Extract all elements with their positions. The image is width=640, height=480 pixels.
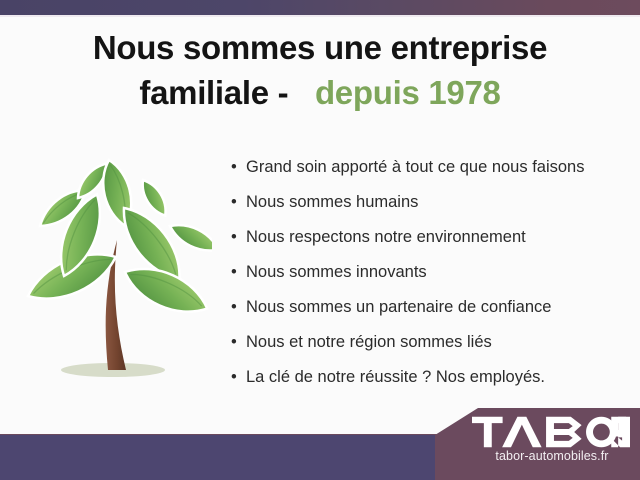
list-item: • La clé de notre réussite ? Nos employé… bbox=[229, 360, 629, 395]
list-item-label: Grand soin apporté à tout ce que nous fa… bbox=[246, 158, 584, 176]
page-title-accent: depuis 1978 bbox=[315, 74, 501, 111]
page-title-line-2-main: familiale - bbox=[139, 74, 288, 111]
logo-tagline: tabor-automobiles.fr bbox=[472, 449, 632, 463]
page-title-line-2: familiale - depuis 1978 bbox=[40, 71, 600, 116]
list-item: • Nous sommes humains bbox=[229, 185, 629, 220]
list-item-label: Nous sommes humains bbox=[246, 193, 418, 211]
value-bullet-list: • Grand soin apporté à tout ce que nous … bbox=[229, 150, 629, 395]
list-item: • Nous sommes un partenaire de confiance bbox=[229, 290, 629, 325]
page-title: Nous sommes une entreprise familiale - d… bbox=[40, 26, 600, 115]
family-tree-illustration bbox=[12, 148, 212, 388]
page-title-line-1: Nous sommes une entreprise bbox=[40, 26, 600, 71]
list-item-label: La clé de notre réussite ? Nos employés. bbox=[246, 368, 545, 386]
bullet-marker-icon: • bbox=[231, 220, 237, 255]
bullet-marker-icon: • bbox=[231, 325, 237, 360]
list-item: • Nous sommes innovants bbox=[229, 255, 629, 290]
list-item-label: Nous respectons notre environnement bbox=[246, 228, 526, 246]
bullet-marker-icon: • bbox=[231, 360, 237, 395]
list-item-label: Nous sommes innovants bbox=[246, 263, 427, 281]
top-band-hairline bbox=[0, 15, 640, 17]
logo-wordmark-tabor bbox=[472, 416, 632, 448]
bullet-marker-icon: • bbox=[231, 185, 237, 220]
list-item-label: Nous et notre région sommes liés bbox=[246, 333, 492, 351]
bullet-marker-icon: • bbox=[231, 290, 237, 325]
footer-band-left bbox=[0, 435, 435, 480]
tree-leaves bbox=[21, 157, 212, 324]
list-item: • Grand soin apporté à tout ce que nous … bbox=[229, 150, 629, 185]
bullet-marker-icon: • bbox=[231, 255, 237, 290]
slide-canvas: Nous sommes une entreprise familiale - d… bbox=[0, 0, 640, 480]
list-item: • Nous respectons notre environnement bbox=[229, 220, 629, 255]
list-item: • Nous et notre région sommes liés bbox=[229, 325, 629, 360]
top-accent-band bbox=[0, 0, 640, 15]
list-item-label: Nous sommes un partenaire de confiance bbox=[246, 298, 551, 316]
bullet-marker-icon: • bbox=[231, 150, 237, 185]
brand-logo[interactable]: tabor-automobiles.fr bbox=[472, 416, 632, 463]
